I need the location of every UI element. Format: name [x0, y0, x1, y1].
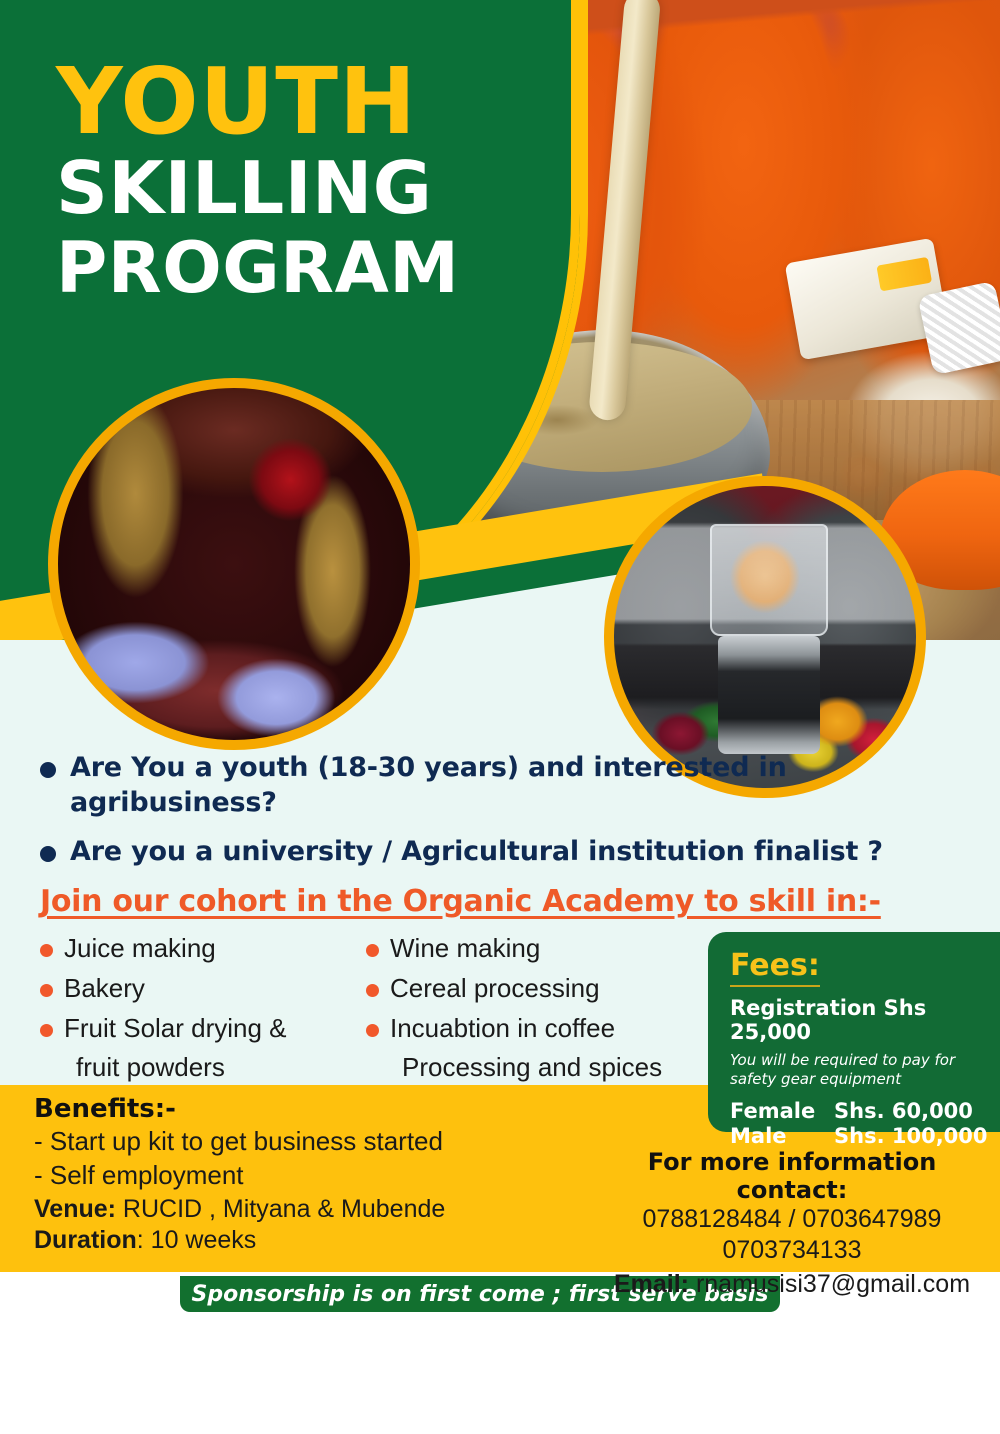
question-text: Are you a university / Agricultural inst… — [70, 834, 883, 869]
bullet-dot-icon — [366, 944, 379, 957]
fees-row-amount: Shs. 60,000 — [834, 1099, 973, 1125]
poster-root: YOUTH SKILLING PROGRAM Are You a youth (… — [0, 0, 1000, 1434]
venue-label: Venue: — [34, 1195, 116, 1223]
fees-row-label: Male — [730, 1124, 834, 1150]
question-item: Are you a university / Agricultural inst… — [40, 834, 970, 869]
title-line-program: PROGRAM — [56, 229, 526, 308]
bullet-dot-icon — [40, 846, 56, 862]
wine-making-photo — [48, 378, 420, 750]
list-item: Wine making — [366, 932, 662, 966]
list-item: Fruit Solar drying & — [40, 1012, 340, 1046]
page-title: YOUTH SKILLING PROGRAM — [56, 56, 526, 308]
skill-label: Juice making — [64, 932, 216, 966]
list-item: Incuabtion in coffee — [366, 1012, 662, 1046]
blender-base-image — [718, 636, 820, 754]
duration-line: Duration: 10 weeks — [34, 1226, 594, 1255]
fees-row-amount: Shs. 100,000 — [834, 1124, 988, 1150]
skill-label: Bakery — [64, 972, 145, 1006]
venue-line: Venue: RUCID , Mityana & Mubende — [34, 1195, 594, 1224]
skill-label-continuation: Processing and spices — [366, 1051, 662, 1085]
skills-column-1: Juice making Bakery Fruit Solar drying &… — [40, 932, 340, 1085]
join-cohort-heading: Join our cohort in the Organic Academy t… — [40, 884, 881, 919]
benefits-section: Benefits:- - Start up kit to get busines… — [34, 1094, 594, 1255]
contact-heading: For more information contact: — [596, 1148, 988, 1204]
question-text: Are You a youth (18-30 years) and intere… — [70, 750, 970, 820]
benefit-item: - Self employment — [34, 1158, 594, 1192]
bullet-dot-icon — [40, 984, 53, 997]
fees-row-label: Female — [730, 1099, 834, 1125]
benefits-heading: Benefits:- — [34, 1094, 594, 1124]
bullet-dot-icon — [40, 762, 56, 778]
footer-logos — [0, 1326, 1000, 1434]
bullet-dot-icon — [366, 1024, 379, 1037]
skill-label: Cereal processing — [390, 972, 600, 1006]
skills-column-2: Wine making Cereal processing Incuabtion… — [366, 932, 662, 1085]
email-value[interactable]: rnamusisi37@gmail.com — [689, 1270, 970, 1298]
bullet-dot-icon — [40, 944, 53, 957]
title-line-skilling: SKILLING — [56, 148, 526, 229]
question-item: Are You a youth (18-30 years) and intere… — [40, 750, 970, 820]
contact-phone-line-1[interactable]: 0788128484 / 0703647989 — [596, 1204, 988, 1235]
bullet-dot-icon — [366, 984, 379, 997]
list-item: Bakery — [40, 972, 340, 1006]
fees-note: You will be required to pay for safety g… — [730, 1051, 988, 1089]
fees-heading: Fees: — [730, 948, 820, 987]
list-item: Cereal processing — [366, 972, 662, 1006]
table-row: Female Shs. 60,000 — [730, 1099, 988, 1125]
title-line-youth: YOUTH — [56, 56, 526, 148]
contact-section: For more information contact: 0788128484… — [596, 1148, 988, 1299]
duration-label: Duration — [34, 1226, 137, 1254]
skills-list: Juice making Bakery Fruit Solar drying &… — [40, 932, 700, 1085]
bullet-dot-icon — [40, 1024, 53, 1037]
benefit-item: - Start up kit to get business started — [34, 1124, 594, 1158]
email-label: Email: — [614, 1270, 689, 1298]
skill-label: Wine making — [390, 932, 540, 966]
duration-value: : 10 weeks — [137, 1226, 257, 1254]
fees-rows: Female Shs. 60,000 Male Shs. 100,000 — [730, 1099, 988, 1150]
list-item: Juice making — [40, 932, 340, 966]
skill-label: Incuabtion in coffee — [390, 1012, 615, 1046]
venue-value: RUCID , Mityana & Mubende — [116, 1195, 445, 1223]
contact-phone-line-2[interactable]: 0703734133 — [596, 1235, 988, 1266]
blender-jar-image — [710, 524, 828, 636]
fees-registration: Registration Shs 25,000 — [730, 996, 988, 1044]
contact-email-line[interactable]: Email: rnamusisi37@gmail.com — [596, 1270, 988, 1299]
table-row: Male Shs. 100,000 — [730, 1124, 988, 1150]
skill-label-continuation: fruit powders — [40, 1051, 340, 1085]
eligibility-questions: Are You a youth (18-30 years) and intere… — [40, 750, 970, 883]
fees-box: Fees: Registration Shs 25,000 You will b… — [708, 932, 1000, 1132]
skill-label: Fruit Solar drying & — [64, 1012, 287, 1046]
